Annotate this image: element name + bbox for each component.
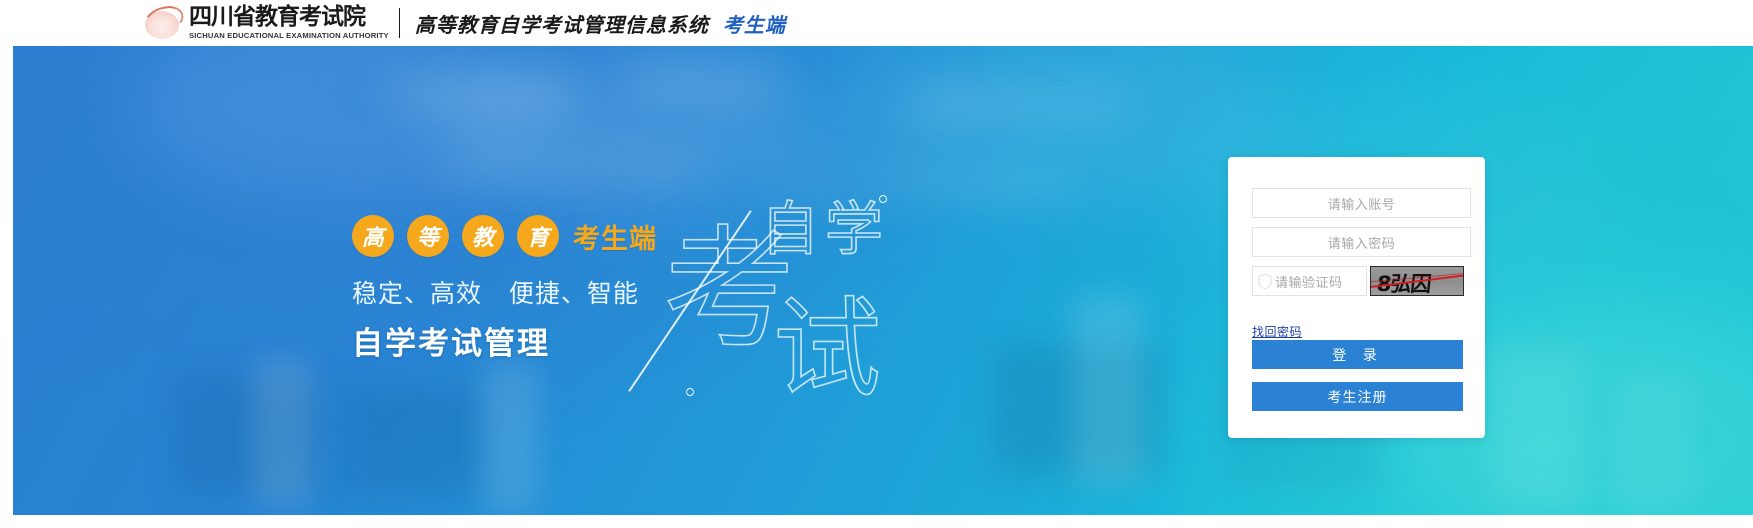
background-seat-1 bbox=[173, 376, 323, 496]
decor-dot-bottom bbox=[686, 388, 694, 396]
login-card: 请输入账号 请输入密码 请输验证码 8弘囚 找回密码 登 录 考生注册 bbox=[1228, 157, 1485, 438]
background-seat-3 bbox=[253, 358, 313, 508]
header-divider bbox=[399, 8, 400, 38]
banner-slogan: 高 等 教 育 考生端 稳定、高效 便捷、智能 自学考试管理 bbox=[352, 214, 657, 363]
banner-badge-3: 教 bbox=[462, 215, 504, 257]
header-content: 四川省教育考试院 SICHUAN EDUCATIONAL EXAMINATION… bbox=[141, 5, 786, 41]
login-button[interactable]: 登 录 bbox=[1252, 340, 1463, 369]
captcha-input[interactable]: 请输验证码 bbox=[1252, 266, 1367, 296]
background-seat-9 bbox=[1613, 376, 1693, 506]
banner-badge-1: 高 bbox=[352, 215, 394, 257]
banner-badge-4: 育 bbox=[517, 215, 559, 257]
banner-badge-2: 等 bbox=[407, 215, 449, 257]
password-input-placeholder: 请输入密码 bbox=[1328, 233, 1396, 252]
background-seat-5 bbox=[993, 346, 1163, 476]
background-seat-6 bbox=[1073, 296, 1143, 486]
background-streak-5 bbox=[773, 174, 1073, 194]
organization-name-cn: 四川省教育考试院 bbox=[189, 6, 385, 29]
sichuan-eea-logo-icon bbox=[141, 5, 183, 41]
background-blob-2 bbox=[443, 56, 823, 206]
decor-dot-top bbox=[879, 195, 887, 203]
background-blob-1 bbox=[133, 46, 553, 206]
hero-banner: 自学 考 试 高 等 教 育 考生端 稳定、高效 便捷、智能 自学考试管理 请输… bbox=[13, 46, 1753, 515]
banner-headline: 自学考试管理 bbox=[352, 318, 657, 363]
register-button[interactable]: 考生注册 bbox=[1252, 382, 1463, 411]
banner-badge-tail: 考生端 bbox=[573, 217, 657, 256]
background-seat-8 bbox=[1493, 346, 1583, 506]
background-blob-3 bbox=[833, 46, 1293, 206]
background-streak-4 bbox=[443, 156, 703, 176]
system-title: 高等教育自学考试管理信息系统 bbox=[415, 9, 709, 38]
background-streak-1 bbox=[393, 82, 573, 108]
decor-text-kao: 考 bbox=[663, 224, 795, 356]
background-seat-2 bbox=[343, 386, 483, 496]
forgot-password-link[interactable]: 找回密码 bbox=[1252, 323, 1302, 340]
captcha-image[interactable]: 8弘囚 bbox=[1370, 266, 1464, 296]
banner-badge-row: 高 等 教 育 考生端 bbox=[352, 214, 657, 258]
system-role-label: 考生端 bbox=[723, 9, 786, 38]
background-streak-3 bbox=[913, 94, 1123, 116]
decor-text-zixue: 自学 bbox=[761, 200, 889, 258]
banner-subtitle: 稳定、高效 便捷、智能 bbox=[352, 274, 657, 310]
page-header: 四川省教育考试院 SICHUAN EDUCATIONAL EXAMINATION… bbox=[0, 0, 1753, 46]
shield-icon bbox=[1257, 273, 1273, 290]
organization-name-en: SICHUAN EDUCATIONAL EXAMINATION AUTHORIT… bbox=[189, 32, 389, 40]
account-input-placeholder: 请输入账号 bbox=[1328, 194, 1396, 213]
background-streak-2 bbox=[633, 68, 783, 92]
account-input[interactable]: 请输入账号 bbox=[1252, 188, 1471, 218]
decor-text-shi: 试 bbox=[773, 296, 881, 404]
background-seat-4 bbox=[483, 364, 538, 514]
organization-name-block: 四川省教育考试院 SICHUAN EDUCATIONAL EXAMINATION… bbox=[189, 6, 385, 40]
captcha-input-placeholder: 请输验证码 bbox=[1275, 272, 1343, 291]
password-input[interactable]: 请输入密码 bbox=[1252, 227, 1471, 257]
